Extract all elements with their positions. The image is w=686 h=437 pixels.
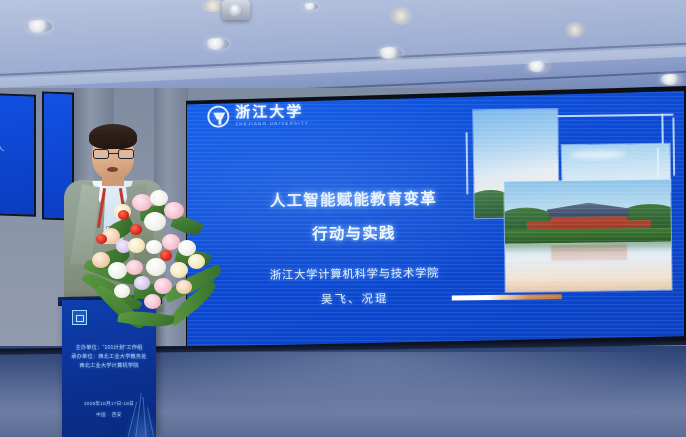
- flower-bloom: [134, 276, 150, 290]
- downlight-icon: [527, 61, 549, 72]
- slide-title-line1: 人工智能赋能教育变革: [238, 186, 468, 211]
- glasses-icon: [93, 149, 134, 159]
- speaker-mouth: [107, 167, 118, 172]
- flower-bloom: [126, 260, 143, 275]
- projector-lens-icon: [229, 4, 243, 17]
- ceiling: [0, 0, 686, 96]
- zju-emblem-icon: [207, 105, 229, 127]
- collage-frame-line: [466, 132, 468, 194]
- downlight-icon: [378, 47, 402, 59]
- collage-frame-line: [672, 118, 674, 176]
- flower-bloom: [164, 202, 184, 219]
- flower-bloom: [154, 278, 172, 294]
- side-panel-glyph-icon: ◟: [0, 139, 4, 152]
- flower-bloom: [128, 238, 145, 253]
- podium-organizer-line1: 承办单位：西北工业大学教务处: [62, 353, 156, 360]
- downlight-glow: [390, 7, 412, 25]
- flower-bloom: [108, 262, 127, 279]
- photo-collage: [443, 106, 676, 309]
- glasses-lens-right: [118, 149, 134, 159]
- flower-bloom: [130, 224, 142, 235]
- podium-organizer-line2: 西北工业大学计算机学院: [62, 362, 156, 369]
- flower-bloom: [118, 210, 129, 220]
- zju-name-cn: 浙江大学: [235, 105, 309, 121]
- flower-bloom: [92, 252, 110, 268]
- podium-decoration: [118, 385, 158, 437]
- deco-line: [147, 407, 154, 437]
- downlight-icon: [660, 74, 682, 85]
- slide-presenters: 吴飞、况琨: [230, 289, 480, 308]
- screen-surface: 浙江大学 ZHEJIANG UNIVERSITY 人工智能赋能教育变革 行动与实…: [187, 90, 684, 348]
- ceiling-projector-icon: [222, 0, 250, 20]
- podium-host-line: 主办单位：“101计划”工作组: [62, 344, 156, 351]
- slide-content: 浙江大学 ZHEJIANG UNIVERSITY 人工智能赋能教育变革 行动与实…: [187, 90, 684, 348]
- flower-bloom: [132, 194, 152, 211]
- side-led-panel-left: ◟: [0, 93, 36, 216]
- glasses-lens-left: [93, 149, 109, 159]
- downlight-icon: [303, 3, 318, 10]
- glasses-bridge: [109, 153, 118, 154]
- palm-frond: [117, 308, 174, 330]
- collage-photo: [504, 180, 671, 292]
- flower-bloom: [96, 234, 107, 244]
- floral-arrangement: [88, 188, 220, 340]
- flower-bloom: [150, 190, 168, 206]
- main-led-screen: 浙江大学 ZHEJIANG UNIVERSITY 人工智能赋能教育变革 行动与实…: [184, 86, 686, 354]
- flower-bloom: [188, 254, 205, 269]
- flower-bloom: [146, 258, 166, 276]
- accent-progress-bar: [452, 294, 562, 300]
- downlight-glow: [565, 22, 585, 38]
- photo-scene: [504, 180, 671, 292]
- downlight-icon: [205, 38, 229, 50]
- conference-hall-photo: ◟ 浙江大学 ZHEJIANG UNIVERSITY 人工智能赋能教育变革 行动…: [0, 0, 686, 437]
- speaker-hair: [89, 124, 137, 149]
- deco-line: [143, 397, 147, 437]
- slide-title-line2: 行动与实践: [239, 220, 469, 245]
- slide-affiliation: 浙江大学计算机科学与技术学院: [229, 264, 479, 283]
- flower-bloom: [146, 240, 162, 254]
- flower-bloom: [114, 284, 130, 298]
- podium-logo-icon: [72, 310, 87, 325]
- flower-bloom: [176, 280, 192, 294]
- sky-reflection: [505, 260, 671, 292]
- flower-bloom: [144, 212, 166, 231]
- flower-bloom: [170, 262, 188, 278]
- bracket-line-horizontal: [543, 114, 673, 117]
- flower-bloom: [144, 294, 161, 309]
- zju-logo: 浙江大学 ZHEJIANG UNIVERSITY: [207, 104, 309, 127]
- downlight-icon: [26, 20, 52, 33]
- deco-line: [135, 393, 141, 437]
- zju-wordmark: 浙江大学 ZHEJIANG UNIVERSITY: [235, 105, 309, 127]
- zju-name-en: ZHEJIANG UNIVERSITY: [235, 122, 309, 127]
